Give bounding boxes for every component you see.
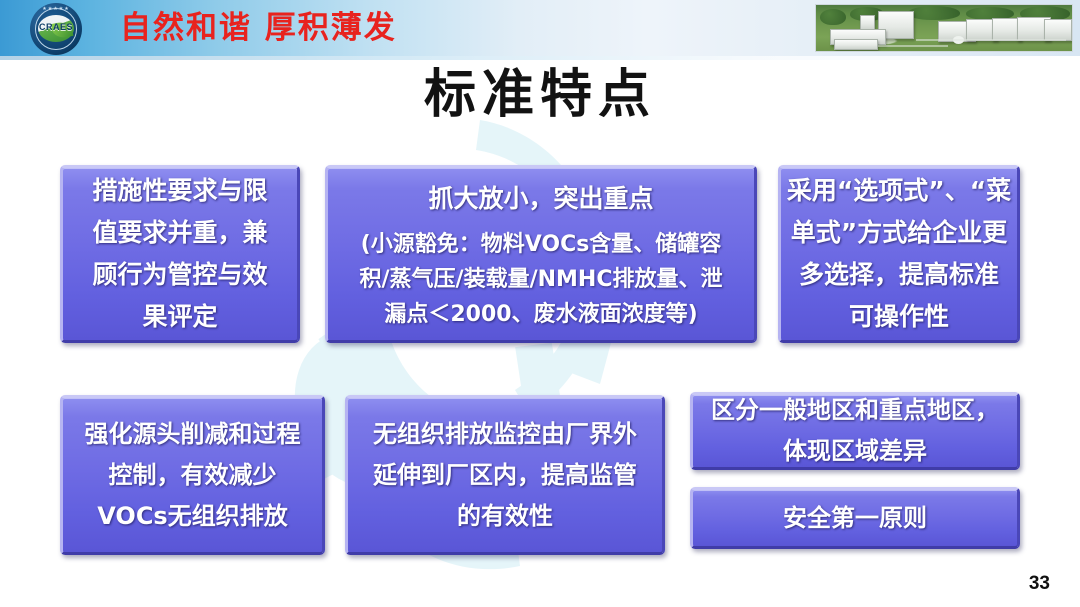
box-5-line-2: 延伸到厂区内，提高监管 (373, 455, 637, 496)
logo-acronym-text: CRAES (30, 22, 82, 32)
page-title: 标准特点 (0, 62, 1080, 128)
box-2-heading: 抓大放小，突出重点 (428, 177, 653, 221)
craes-logo-icon: ★★★★★ CRAES (30, 3, 82, 55)
box-1-line-4: 果评定 (142, 296, 217, 338)
feature-box-3[interactable]: 采用“选项式”、“菜 单式”方式给企业更 多选择，提高标准 可操作性 (778, 165, 1020, 343)
box-5-line-1: 无组织排放监控由厂界外 (373, 414, 637, 455)
box-5-line-3: 的有效性 (457, 496, 553, 537)
box-1-line-2: 值要求并重，兼 (92, 212, 267, 254)
feature-box-7[interactable]: 安全第一原则 (690, 487, 1020, 549)
box-4-line-3: VOCs无组织排放 (97, 496, 287, 537)
feature-box-5[interactable]: 无组织排放监控由厂界外 延伸到厂区内，提高监管 的有效性 (345, 395, 665, 555)
header-slogan: 自然和谐 厚积薄发 (120, 8, 397, 48)
box-3-line-2: 单式”方式给企业更 (791, 212, 1007, 254)
box-3-line-4: 可操作性 (849, 296, 949, 338)
slide-canvas: ★★★★★ CRAES 自然和谐 厚积薄发 标准特点 (0, 0, 1080, 607)
box-7-line-1: 安全第一原则 (783, 498, 927, 539)
campus-aerial-photo (815, 4, 1073, 52)
header-underline (0, 56, 1080, 60)
feature-box-2[interactable]: 抓大放小，突出重点 (小源豁免：物料VOCs含量、储罐容 积/蒸气压/装载量/N… (325, 165, 757, 343)
feature-box-6[interactable]: 区分一般地区和重点地区， 体现区域差异 (690, 392, 1020, 470)
box-4-line-1: 强化源头削减和过程 (85, 414, 301, 455)
box-3-line-1: 采用“选项式”、“菜 (787, 170, 1011, 212)
box-2-line-1: (小源豁免：物料VOCs含量、储罐容 (361, 227, 722, 262)
box-1-line-3: 顾行为管控与效 (92, 254, 267, 296)
box-4-line-2: 控制，有效减少 (109, 455, 277, 496)
page-number: 33 (1029, 573, 1050, 595)
box-2-line-3: 漏点＜2000、废水液面浓度等) (384, 297, 697, 332)
logo-stars: ★★★★★ (30, 6, 82, 12)
box-6-line-1: 区分一般地区和重点地区， (711, 390, 999, 431)
header-banner: ★★★★★ CRAES 自然和谐 厚积薄发 (0, 0, 1080, 56)
box-3-line-3: 多选择，提高标准 (799, 254, 999, 296)
feature-box-1[interactable]: 措施性要求与限 值要求并重，兼 顾行为管控与效 果评定 (60, 165, 300, 343)
box-2-line-2: 积/蒸气压/装载量/NMHC排放量、泄 (360, 262, 723, 297)
box-1-line-1: 措施性要求与限 (92, 170, 267, 212)
feature-box-4[interactable]: 强化源头削减和过程 控制，有效减少 VOCs无组织排放 (60, 395, 325, 555)
box-6-line-2: 体现区域差异 (783, 431, 927, 472)
